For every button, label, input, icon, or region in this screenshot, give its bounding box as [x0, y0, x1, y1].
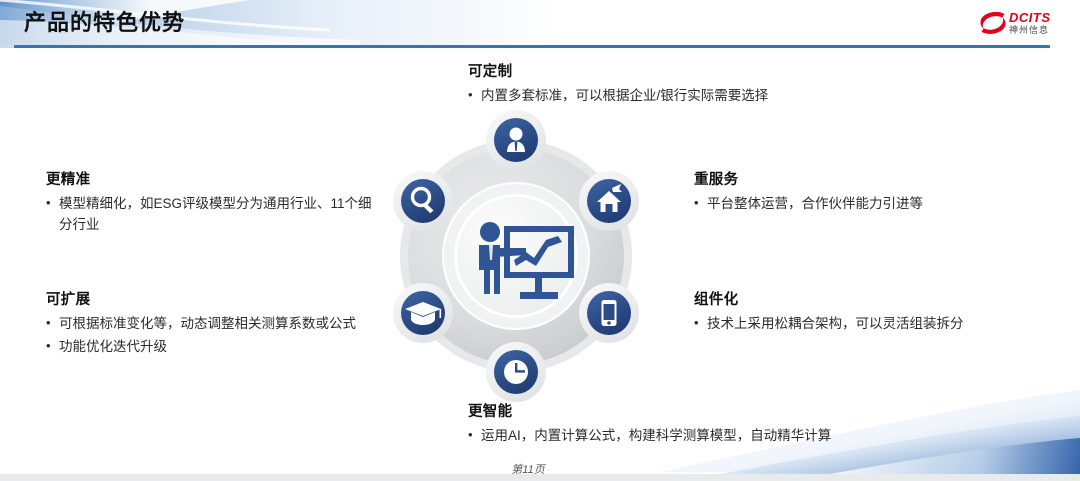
feature-bullet: 可根据标准变化等，动态调整相关测算系数或公式 — [46, 313, 381, 334]
feature-bullet-list: 内置多套标准，可以根据企业/银行实际需要选择 — [468, 85, 908, 106]
page-number: 第11页 — [468, 461, 588, 474]
mobile-phone-icon — [602, 300, 617, 326]
diagram-node-clock[interactable] — [486, 342, 546, 402]
feature-title: 重服务 — [694, 168, 1024, 189]
feature-bullet-list: 模型精细化，如ESG评级模型分为通用行业、11个细分行业 — [46, 193, 381, 235]
title-underline — [14, 45, 1050, 48]
brand-logo: DCITS 神州信息 — [980, 8, 1076, 38]
slide-canvas: 产品的特色优势 DCITS 神州信息 — [0, 0, 1080, 474]
feature-title: 更智能 — [468, 400, 988, 421]
feature-bullet-list: 平台整体运营，合作伙伴能力引进等 — [694, 193, 1024, 214]
feature-block-intelligent: 更智能 运用AI，内置计算公式，构建科学测算模型，自动精华计算 — [468, 400, 988, 448]
clock-icon — [504, 360, 528, 384]
feature-circle-diagram — [376, 108, 656, 404]
feature-block-customizable: 可定制 内置多套标准，可以根据企业/银行实际需要选择 — [468, 60, 908, 108]
window-bottom-strip — [0, 474, 1080, 481]
feature-bullet: 平台整体运营，合作伙伴能力引进等 — [694, 193, 1024, 214]
feature-bullet-list: 可根据标准变化等，动态调整相关测算系数或公式 功能优化迭代升级 — [46, 313, 381, 357]
feature-block-accurate: 更精准 模型精细化，如ESG评级模型分为通用行业、11个细分行业 — [46, 168, 381, 237]
diagram-node-user[interactable] — [486, 110, 546, 170]
feature-bullet: 内置多套标准，可以根据企业/银行实际需要选择 — [468, 85, 908, 106]
feature-title: 组件化 — [694, 288, 1024, 309]
feature-bullet-list: 技术上采用松耦合架构，可以灵活组装拆分 — [694, 313, 1024, 334]
dcits-swirl-icon — [980, 11, 1006, 35]
feature-bullet: 功能优化迭代升级 — [46, 336, 381, 357]
feature-block-extensible: 可扩展 可根据标准变化等，动态调整相关测算系数或公式 功能优化迭代升级 — [46, 288, 381, 359]
feature-title: 可定制 — [468, 60, 908, 81]
feature-title: 可扩展 — [46, 288, 381, 309]
feature-title: 更精准 — [46, 168, 381, 189]
logo-chinese-text: 神州信息 — [1009, 26, 1051, 35]
diagram-node-phone[interactable] — [579, 283, 639, 343]
diagram-node-education[interactable] — [393, 283, 453, 343]
logo-english-text: DCITS — [1009, 11, 1051, 24]
page-title: 产品的特色优势 — [24, 8, 185, 38]
diagram-node-house[interactable] — [579, 171, 639, 231]
slide-header: 产品的特色优势 DCITS 神州信息 — [0, 0, 1080, 48]
feature-block-modular: 组件化 技术上采用松耦合架构，可以灵活组装拆分 — [694, 288, 1024, 336]
feature-bullet: 运用AI，内置计算公式，构建科学测算模型，自动精华计算 — [468, 425, 988, 446]
diagram-node-search[interactable] — [393, 171, 453, 231]
feature-bullet-list: 运用AI，内置计算公式，构建科学测算模型，自动精华计算 — [468, 425, 988, 446]
feature-bullet: 模型精细化，如ESG评级模型分为通用行业、11个细分行业 — [46, 193, 381, 235]
diagram-center — [454, 194, 578, 318]
feature-bullet: 技术上采用松耦合架构，可以灵活组装拆分 — [694, 313, 1024, 334]
feature-block-service: 重服务 平台整体运营，合作伙伴能力引进等 — [694, 168, 1024, 216]
